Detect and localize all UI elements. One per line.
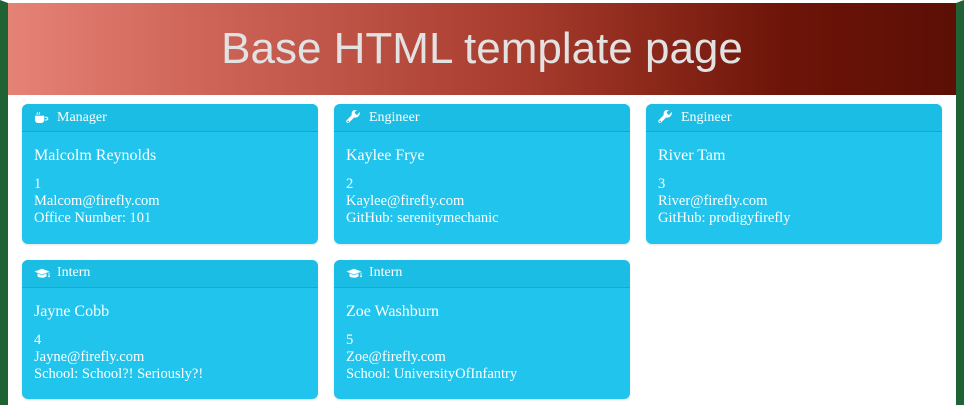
card-role-label: Intern bbox=[57, 266, 90, 280]
card-body: Kaylee Frye2Kaylee@firefly.comGitHub: se… bbox=[334, 132, 630, 244]
employee-detail-line: River@firefly.com bbox=[658, 193, 930, 210]
card-cell: EngineerKaylee Frye2Kaylee@firefly.comGi… bbox=[326, 104, 638, 260]
card-cell: InternJayne Cobb4Jayne@firefly.comSchool… bbox=[14, 260, 326, 405]
employee-detail-line: 5 bbox=[346, 332, 618, 349]
employee-detail-line: Jayne@firefly.com bbox=[34, 349, 306, 366]
card-role-label: Manager bbox=[57, 111, 107, 125]
employee-card-grid: ManagerMalcolm Reynolds1Malcom@firefly.c… bbox=[8, 95, 956, 405]
employee-detail-line: Office Number: 101 bbox=[34, 210, 306, 227]
employee-detail-line: GitHub: prodigyfirefly bbox=[658, 210, 930, 227]
wrench-icon bbox=[658, 111, 674, 125]
card-body: River Tam3River@firefly.comGitHub: prodi… bbox=[646, 132, 942, 244]
card-cell: EngineerRiver Tam3River@firefly.comGitHu… bbox=[638, 104, 950, 260]
employee-name: Kaylee Frye bbox=[346, 146, 618, 165]
employee-name: River Tam bbox=[658, 146, 930, 165]
employee-details: 4Jayne@firefly.comSchool: School?! Serio… bbox=[34, 332, 306, 383]
employee-card[interactable]: InternZoe Washburn5Zoe@firefly.comSchool… bbox=[334, 260, 630, 400]
employee-card[interactable]: EngineerKaylee Frye2Kaylee@firefly.comGi… bbox=[334, 104, 630, 244]
employee-detail-line: 1 bbox=[34, 176, 306, 193]
employee-detail-line: GitHub: serenitymechanic bbox=[346, 210, 618, 227]
employee-name: Zoe Washburn bbox=[346, 302, 618, 321]
card-cell: ManagerMalcolm Reynolds1Malcom@firefly.c… bbox=[14, 104, 326, 260]
employee-detail-line: School: School?! Seriously?! bbox=[34, 366, 306, 383]
card-header: Intern bbox=[22, 260, 318, 288]
coffee-mug-icon bbox=[34, 111, 50, 125]
employee-detail-line: 2 bbox=[346, 176, 618, 193]
graduation-cap-icon bbox=[34, 266, 50, 280]
employee-detail-line: Zoe@firefly.com bbox=[346, 349, 618, 366]
employee-details: 1Malcom@firefly.comOffice Number: 101 bbox=[34, 176, 306, 227]
employee-details: 2Kaylee@firefly.comGitHub: serenitymecha… bbox=[346, 176, 618, 227]
page-banner: Base HTML template page bbox=[8, 3, 956, 95]
card-header: Engineer bbox=[334, 104, 630, 132]
card-header: Intern bbox=[334, 260, 630, 288]
card-role-label: Intern bbox=[369, 266, 402, 280]
employee-name: Jayne Cobb bbox=[34, 302, 306, 321]
card-cell: InternZoe Washburn5Zoe@firefly.comSchool… bbox=[326, 260, 638, 405]
card-header: Engineer bbox=[646, 104, 942, 132]
graduation-cap-icon bbox=[346, 266, 362, 280]
employee-card[interactable]: EngineerRiver Tam3River@firefly.comGitHu… bbox=[646, 104, 942, 244]
card-body: Malcolm Reynolds1Malcom@firefly.comOffic… bbox=[22, 132, 318, 244]
employee-detail-line: 3 bbox=[658, 176, 930, 193]
employee-card[interactable]: ManagerMalcolm Reynolds1Malcom@firefly.c… bbox=[22, 104, 318, 244]
employee-detail-line: 4 bbox=[34, 332, 306, 349]
card-header: Manager bbox=[22, 104, 318, 132]
employee-details: 5Zoe@firefly.comSchool: UniversityOfInfa… bbox=[346, 332, 618, 383]
employee-name: Malcolm Reynolds bbox=[34, 146, 306, 165]
employee-card[interactable]: InternJayne Cobb4Jayne@firefly.comSchool… bbox=[22, 260, 318, 400]
employee-detail-line: Kaylee@firefly.com bbox=[346, 193, 618, 210]
card-body: Zoe Washburn5Zoe@firefly.comSchool: Univ… bbox=[334, 288, 630, 400]
employee-detail-line: Malcom@firefly.com bbox=[34, 193, 306, 210]
employee-details: 3River@firefly.comGitHub: prodigyfirefly bbox=[658, 176, 930, 227]
card-role-label: Engineer bbox=[681, 111, 732, 125]
wrench-icon bbox=[346, 111, 362, 125]
card-body: Jayne Cobb4Jayne@firefly.comSchool: Scho… bbox=[22, 288, 318, 400]
page-title: Base HTML template page bbox=[221, 27, 743, 71]
employee-detail-line: School: UniversityOfInfantry bbox=[346, 366, 618, 383]
card-role-label: Engineer bbox=[369, 111, 420, 125]
